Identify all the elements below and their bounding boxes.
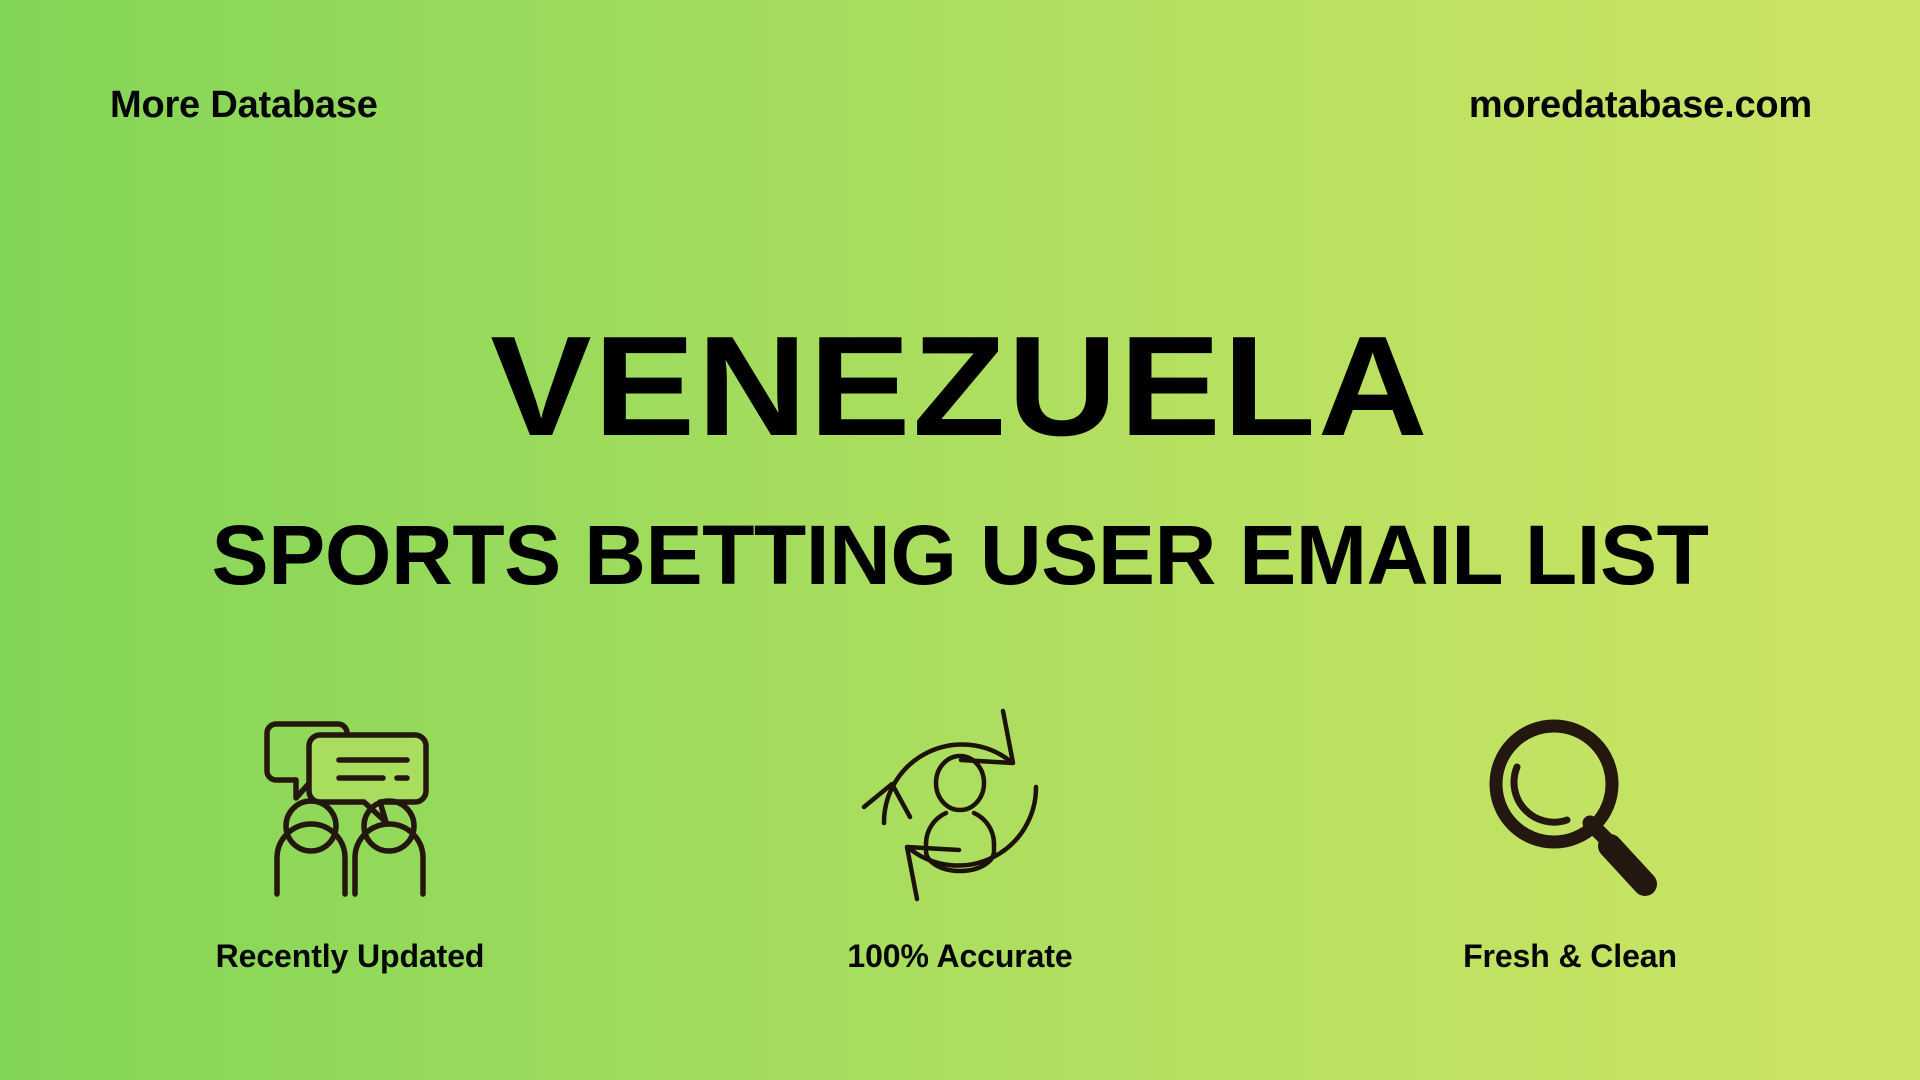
promo-banner: More Database moredatabase.com VENEZUELA…	[0, 0, 1920, 1080]
person-refresh-cycle-icon	[865, 700, 1055, 910]
magnifying-glass-icon	[1475, 700, 1665, 910]
headline-block: VENEZUELA SPORTS BETTING USER EMAIL LIST	[0, 320, 1920, 597]
feature-row: Recently Updated	[0, 700, 1920, 972]
two-people-chat-bubbles-icon	[255, 700, 445, 910]
country-title: VENEZUELA	[0, 320, 1920, 453]
feature-label: Recently Updated	[216, 940, 485, 972]
feature-label: Fresh & Clean	[1463, 940, 1677, 972]
feature-label: 100% Accurate	[847, 940, 1072, 972]
site-url: moredatabase.com	[1469, 86, 1812, 124]
feature-recently-updated: Recently Updated	[170, 700, 530, 972]
brand-name: More Database	[110, 86, 378, 124]
feature-fresh-clean: Fresh & Clean	[1390, 700, 1750, 972]
banner-header: More Database moredatabase.com	[0, 0, 1920, 210]
product-subtitle: SPORTS BETTING USER EMAIL LIST	[0, 513, 1920, 597]
feature-accurate: 100% Accurate	[780, 700, 1140, 972]
